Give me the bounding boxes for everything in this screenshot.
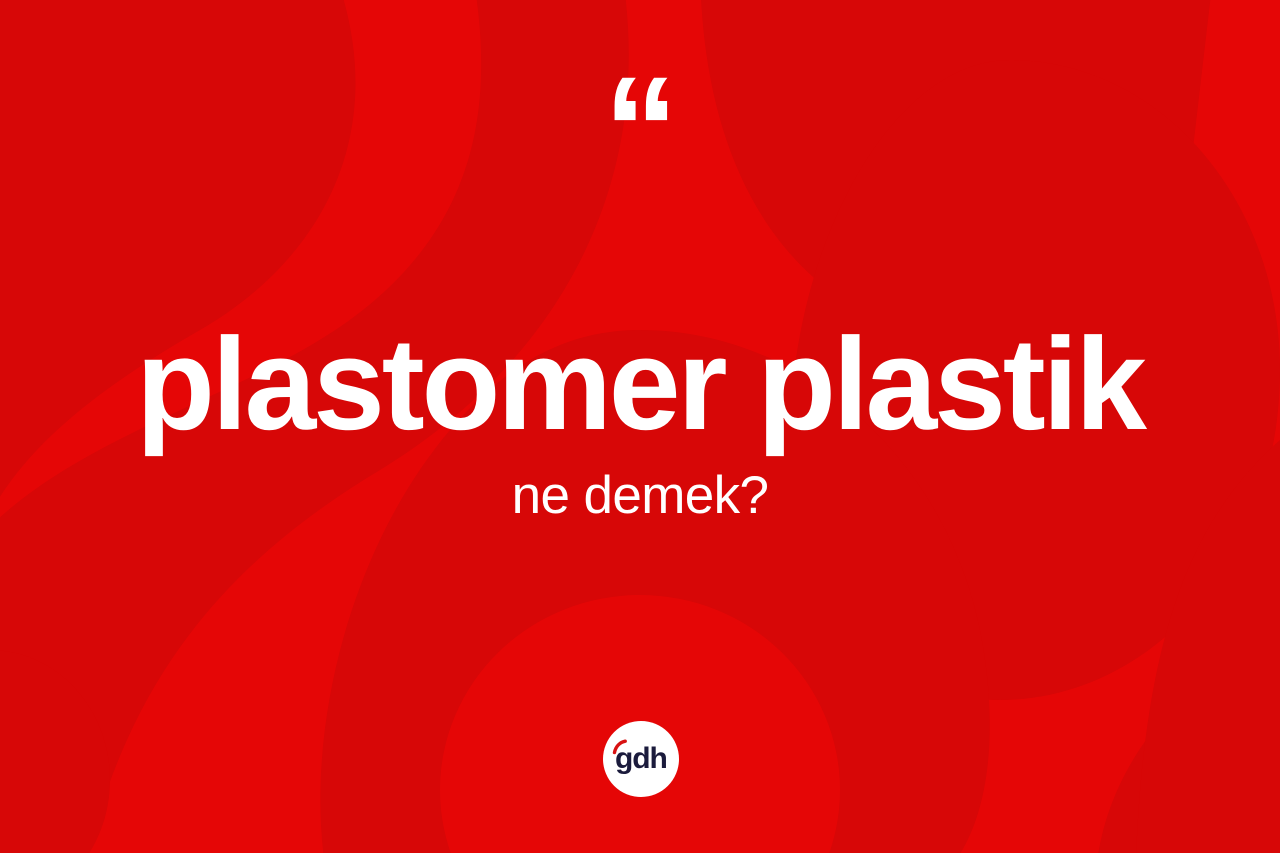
page-subtitle: ne demek? — [0, 469, 1280, 522]
headline-block: plastomer plastik ne demek? — [0, 318, 1280, 522]
blob-bottom-right-tail — [1095, 620, 1280, 853]
page-title: plastomer plastik — [10, 318, 1271, 449]
left-double-quotation-mark-icon: “ — [0, 54, 1280, 154]
blob-top-right-lobe — [700, 0, 1215, 330]
logo-wordmark: gdh — [615, 742, 667, 775]
social-card: “ plastomer plastik ne demek? gdh — [0, 0, 1280, 853]
gdh-logo[interactable]: gdh — [603, 721, 679, 797]
gdh-logo-mark: gdh — [611, 739, 671, 779]
blob-bottom-left — [0, 650, 110, 853]
